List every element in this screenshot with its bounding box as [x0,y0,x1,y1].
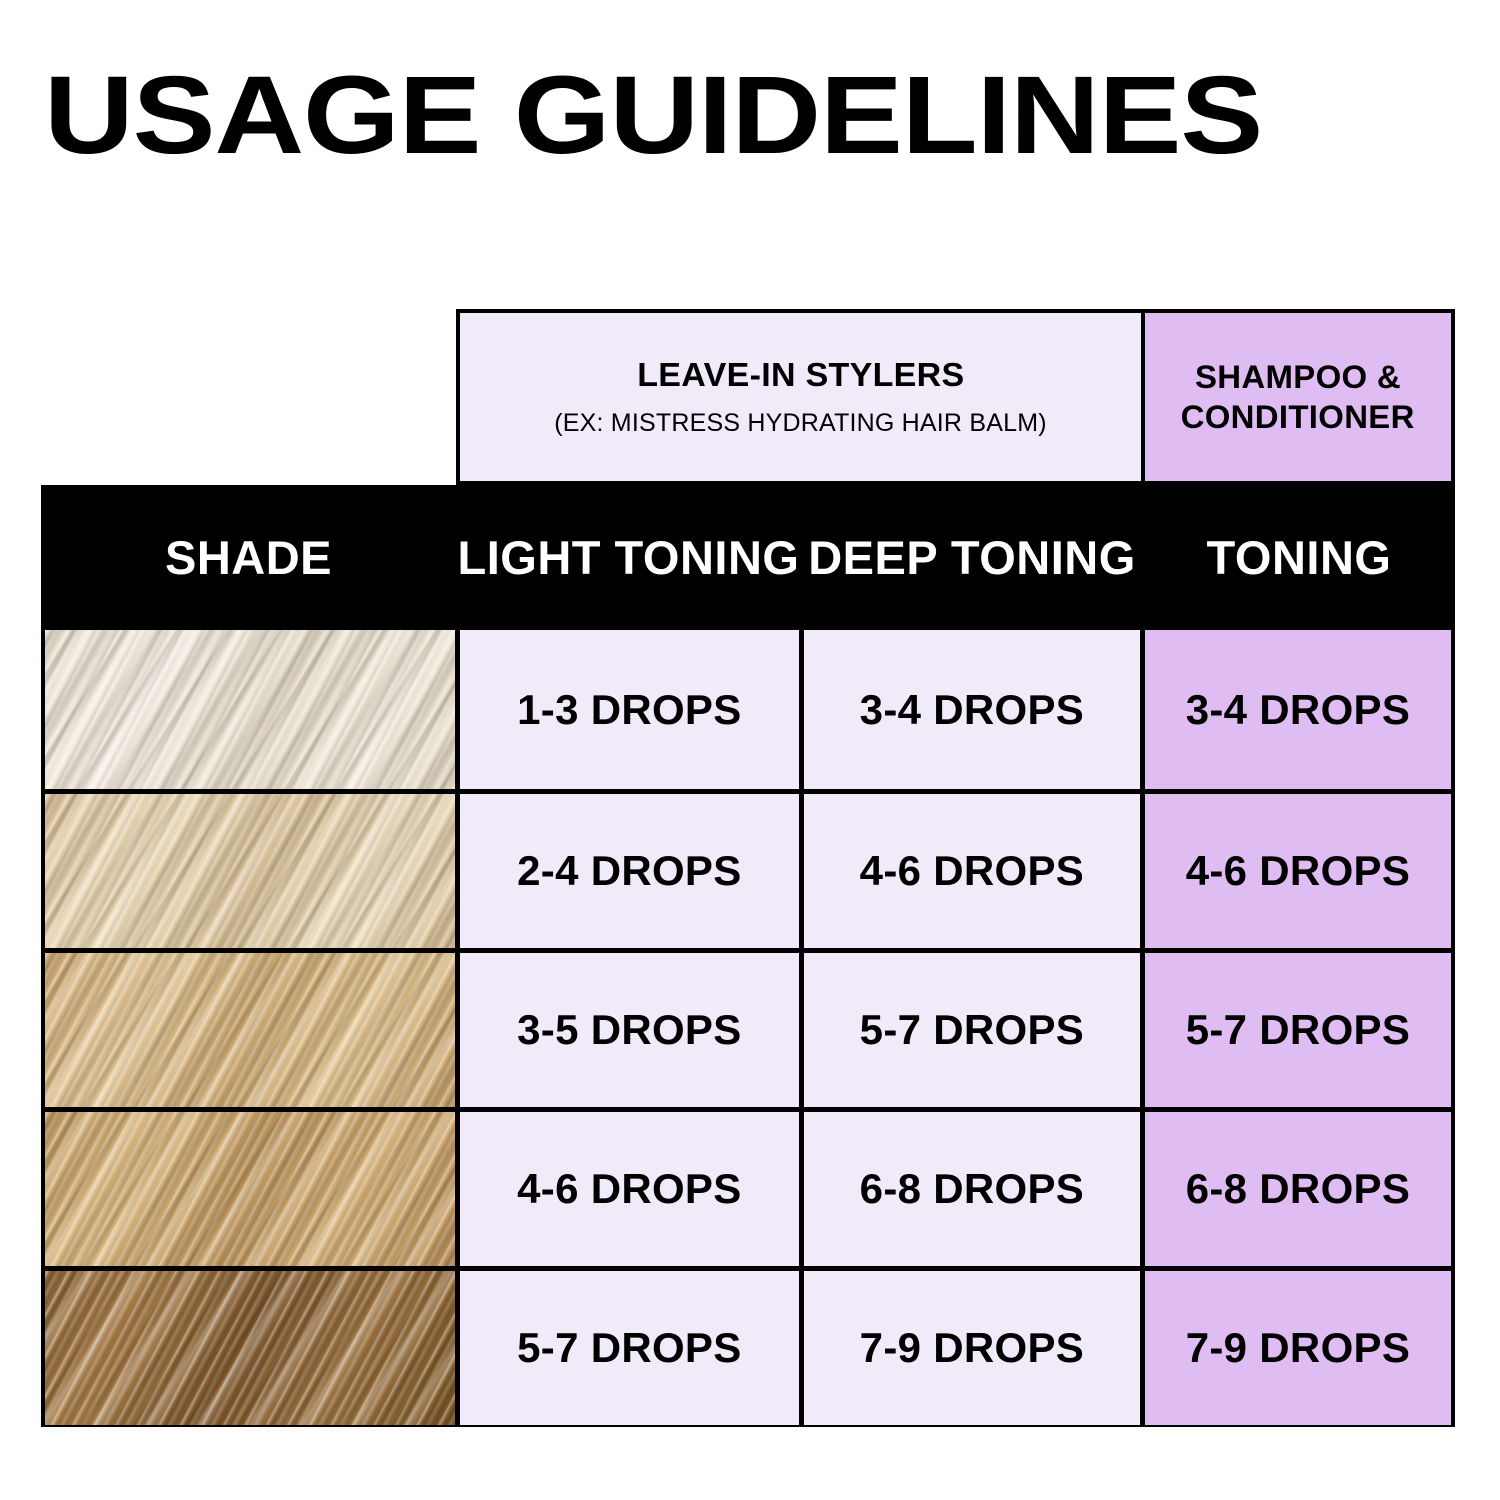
column-header-shade: SHADE [41,485,456,630]
column-header-row: SHADE LIGHT TONING DEEP TONING TONING [41,485,1455,630]
toning-value: 5-7 DROPS [1186,1006,1410,1054]
deep-toning-cell: 5-7 DROPS [799,953,1140,1107]
light-toning-value: 2-4 DROPS [517,847,741,895]
table-row: 1-3 DROPS 3-4 DROPS 3-4 DROPS [45,630,1451,789]
light-toning-cell: 4-6 DROPS [455,1112,799,1266]
toning-value: 7-9 DROPS [1186,1324,1410,1372]
toning-cell: 6-8 DROPS [1140,1112,1451,1266]
shade-swatch-cell [45,630,455,789]
column-header-deep-toning: DEEP TONING [801,485,1143,630]
page-title: USAGE GUIDELINES [44,64,1500,168]
usage-guidelines-table: LEAVE-IN STYLERS (EX: MISTRESS HYDRATING… [41,309,1455,1427]
deep-toning-cell: 7-9 DROPS [799,1271,1140,1425]
hair-swatch-image [45,1112,455,1266]
category-header-shampoo-conditioner: SHAMPOO & CONDITIONER [1143,309,1455,485]
hair-swatch-image [45,794,455,948]
toning-cell: 5-7 DROPS [1140,953,1451,1107]
light-toning-value: 1-3 DROPS [517,686,741,734]
deep-toning-value: 4-6 DROPS [860,847,1084,895]
category-title-shampoo-line2: CONDITIONER [1173,397,1424,437]
deep-toning-cell: 3-4 DROPS [799,630,1140,789]
toning-cell: 4-6 DROPS [1140,794,1451,948]
shade-swatch-cell [45,1271,455,1425]
shade-swatch-cell [45,953,455,1107]
deep-toning-value: 3-4 DROPS [860,686,1084,734]
hair-swatch-image [45,953,455,1107]
table-row: 2-4 DROPS 4-6 DROPS 4-6 DROPS [45,789,1451,948]
toning-value: 3-4 DROPS [1186,686,1410,734]
shade-swatch-cell [45,794,455,948]
category-subtitle-leave-in-stylers: (EX: MISTRESS HYDRATING HAIR BALM) [554,409,1047,437]
hair-swatch-image [45,630,455,789]
table-row: 4-6 DROPS 6-8 DROPS 6-8 DROPS [45,1107,1451,1266]
light-toning-cell: 3-5 DROPS [455,953,799,1107]
deep-toning-cell: 6-8 DROPS [799,1112,1140,1266]
toning-value: 6-8 DROPS [1186,1165,1410,1213]
category-title-leave-in-stylers: LEAVE-IN STYLERS [637,357,964,393]
light-toning-cell: 1-3 DROPS [455,630,799,789]
light-toning-cell: 2-4 DROPS [455,794,799,948]
toning-cell: 7-9 DROPS [1140,1271,1451,1425]
category-header-leave-in-stylers: LEAVE-IN STYLERS (EX: MISTRESS HYDRATING… [456,309,1143,485]
deep-toning-value: 6-8 DROPS [860,1165,1084,1213]
light-toning-cell: 5-7 DROPS [455,1271,799,1425]
table-row: 3-5 DROPS 5-7 DROPS 5-7 DROPS [45,948,1451,1107]
shade-swatch-cell [45,1112,455,1266]
table-row: 5-7 DROPS 7-9 DROPS 7-9 DROPS [45,1266,1451,1425]
column-header-light-toning: LIGHT TONING [456,485,801,630]
light-toning-value: 4-6 DROPS [517,1165,741,1213]
deep-toning-cell: 4-6 DROPS [799,794,1140,948]
toning-cell: 3-4 DROPS [1140,630,1451,789]
hair-swatch-image [45,1271,455,1425]
column-header-toning: TONING [1143,485,1455,630]
table-body: 1-3 DROPS 3-4 DROPS 3-4 DROPS 2-4 DROPS … [41,630,1455,1427]
category-title-shampoo-line1: SHAMPOO & [1187,357,1410,397]
light-toning-value: 5-7 DROPS [517,1324,741,1372]
deep-toning-value: 5-7 DROPS [860,1006,1084,1054]
light-toning-value: 3-5 DROPS [517,1006,741,1054]
category-header-band: LEAVE-IN STYLERS (EX: MISTRESS HYDRATING… [456,309,1455,485]
deep-toning-value: 7-9 DROPS [860,1324,1084,1372]
toning-value: 4-6 DROPS [1186,847,1410,895]
